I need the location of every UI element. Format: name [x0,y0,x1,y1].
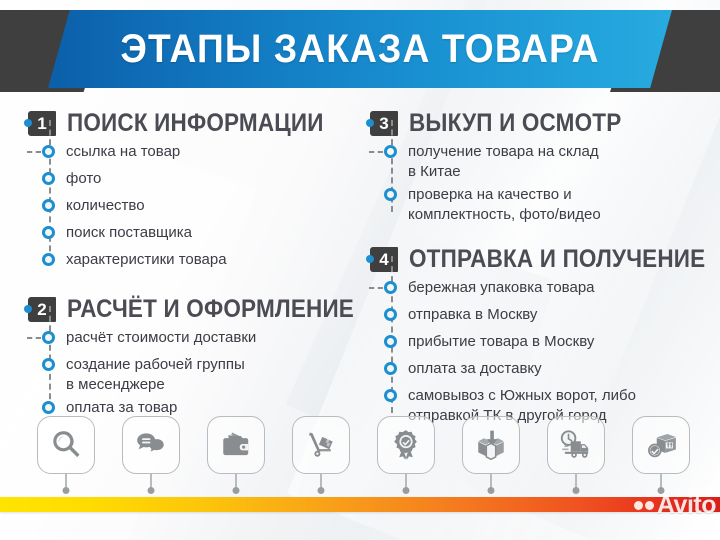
section-1-number-badge: 1 [28,111,56,136]
list-item: проверка на качество и комплектность, фо… [370,185,700,225]
icon-card-chat [122,416,180,474]
section-3-items: получение товара на склад в Китае провер… [370,142,700,225]
list-item: получение товара на склад в Китае [370,142,700,182]
list-item-label: количество [66,196,145,216]
icon-stem [575,474,577,491]
right-column: 3 ВЫКУП И ОСМОТР получение товара на скл… [370,108,700,429]
list-item: количество [28,196,358,220]
list-item: создание рабочей группы в месенджере [28,355,358,395]
bullet-icon [384,188,397,201]
icon-card-boxes-check [632,416,690,474]
icon-stem [65,474,67,491]
section-4-items: бережная упаковка товара отправка в Моск… [370,278,700,426]
section-1: 1 ПОИСК ИНФОРМАЦИИ ссылка на товар фото … [28,108,358,274]
hand-truck-icon [304,428,338,462]
bullet-icon [384,362,397,375]
bullet-icon [42,199,55,212]
section-1-items: ссылка на товар фото количество поиск по… [28,142,358,274]
box-packing-icon [474,428,508,462]
icon-strip [0,416,720,488]
icon-card-hand-truck [292,416,350,474]
boxes-check-icon [644,428,678,462]
bullet-icon [42,253,55,266]
section-2: 2 РАСЧЁТ И ОФОРМЛЕНИЕ расчёт стоимости д… [28,294,358,422]
icon-stem [320,474,322,491]
bullet-icon [384,281,397,294]
section-4: 4 ОТПРАВКА И ПОЛУЧЕНИЕ бережная упаковка… [370,244,700,426]
list-item-label: отправка в Москву [408,305,537,325]
list-item-label: получение товара на склад в Китае [408,142,599,182]
list-item: фото [28,169,358,193]
list-item: ссылка на товар [28,142,358,166]
icon-stem [405,474,407,491]
list-item: прибытие товара в Москву [370,332,700,356]
bullet-icon [384,308,397,321]
list-item-label: характеристики товара [66,250,227,270]
section-1-header: 1 ПОИСК ИНФОРМАЦИИ [28,108,358,138]
bullet-icon [42,172,55,185]
icon-card-wallet [207,416,265,474]
icon-stem [660,474,662,491]
list-item-label: поиск поставщика [66,223,192,243]
section-3-header: 3 ВЫКУП И ОСМОТР [370,108,700,138]
bullet-icon [42,331,55,344]
quality-badge-icon [389,428,423,462]
magnifier-icon [49,428,83,462]
list-item-label: прибытие товара в Москву [408,332,594,352]
icon-card-box-packing [462,416,520,474]
section-2-header: 2 РАСЧЁТ И ОФОРМЛЕНИЕ [28,294,358,324]
icon-card-quality-badge [377,416,435,474]
list-item-label: ссылка на товар [66,142,180,162]
section-4-title: ОТПРАВКА И ПОЛУЧЕНИЕ [409,247,705,272]
bullet-icon [42,358,55,371]
list-item: поиск поставщика [28,223,358,247]
page-title: ЭТАПЫ ЗАКАЗА ТОВАРА [70,10,650,88]
list-item: расчёт стоимости доставки [28,328,358,352]
icon-stem [150,474,152,491]
list-item: отправка в Москву [370,305,700,329]
list-item-label: оплата за доставку [408,359,542,379]
infographic-poster: ЭТАПЫ ЗАКАЗА ТОВАРА 1 ПОИСК ИНФОРМАЦИИ с… [0,0,720,540]
section-3-title: ВЫКУП И ОСМОТР [409,111,621,136]
icon-stem [235,474,237,491]
list-item-label: расчёт стоимости доставки [66,328,256,348]
list-item: характеристики товара [28,250,358,274]
list-item-label: бережная упаковка товара [408,278,595,298]
timeline-progress-bar [0,497,720,512]
icon-card-search [37,416,95,474]
section-2-number-badge: 2 [28,297,56,322]
section-4-header: 4 ОТПРАВКА И ПОЛУЧЕНИЕ [370,244,700,274]
bullet-icon [42,226,55,239]
section-2-items: расчёт стоимости доставки создание рабоч… [28,328,358,422]
list-item: бережная упаковка товара [370,278,700,302]
section-1-title: ПОИСК ИНФОРМАЦИИ [67,111,324,136]
section-2-title: РАСЧЁТ И ОФОРМЛЕНИЕ [67,297,354,322]
list-item-label: проверка на качество и комплектность, фо… [408,185,601,225]
list-item-label: оплата за товар [66,398,177,418]
bullet-icon [42,145,55,158]
section-4-number-badge: 4 [370,247,398,272]
list-item-label: фото [66,169,101,189]
bullet-icon [384,145,397,158]
left-column: 1 ПОИСК ИНФОРМАЦИИ ссылка на товар фото … [28,108,358,425]
bullet-icon [384,335,397,348]
delivery-truck-clock-icon [559,428,593,462]
section-3: 3 ВЫКУП И ОСМОТР получение товара на скл… [370,108,700,225]
list-item-label: создание рабочей группы в месенджере [66,355,245,395]
section-3-number-badge: 3 [370,111,398,136]
chat-bubbles-icon [134,428,168,462]
header-banner: ЭТАПЫ ЗАКАЗА ТОВАРА [0,10,720,92]
bullet-icon [384,389,397,402]
bullet-icon [42,401,55,414]
icon-card-delivery-truck [547,416,605,474]
wallet-icon [219,428,253,462]
icon-stem [490,474,492,491]
list-item: оплата за доставку [370,359,700,383]
